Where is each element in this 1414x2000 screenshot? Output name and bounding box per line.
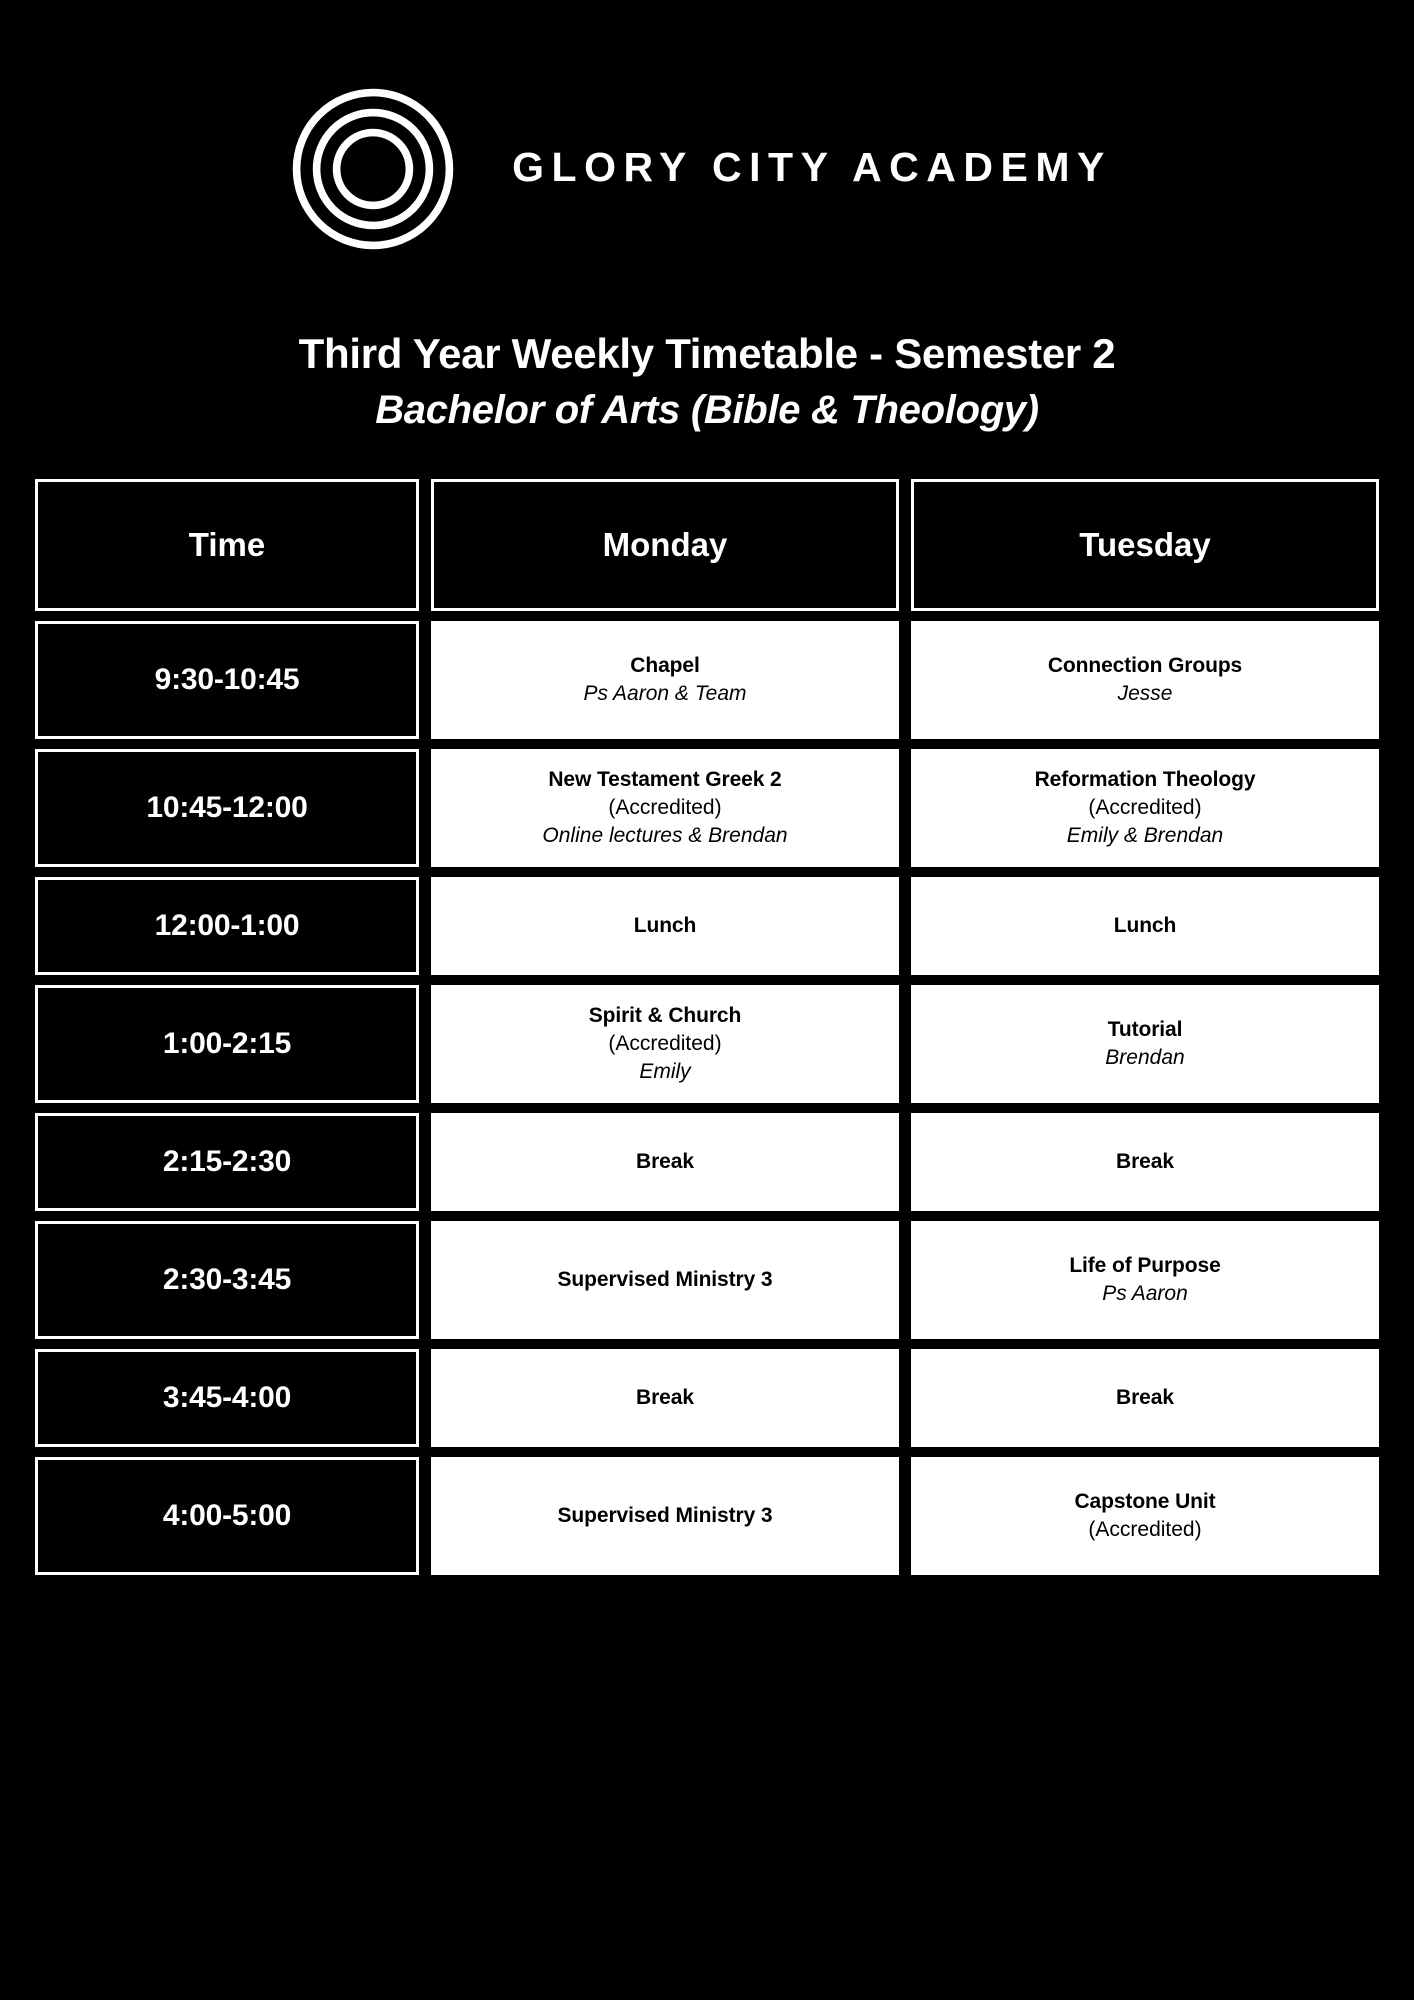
- table-row: 12:00-1:00LunchLunch: [35, 877, 1379, 975]
- class-title: New Testament Greek 2: [443, 766, 887, 794]
- class-title: Break: [923, 1148, 1367, 1176]
- class-staff: Ps Aaron & Team: [443, 680, 887, 708]
- class-staff: Jesse: [923, 680, 1367, 708]
- class-title: Life of Purpose: [923, 1252, 1367, 1280]
- tuesday-cell: Capstone Unit(Accredited): [911, 1457, 1379, 1575]
- class-note: (Accredited): [923, 794, 1367, 822]
- class-staff: Online lectures & Brendan: [443, 822, 887, 850]
- class-title: Reformation Theology: [923, 766, 1367, 794]
- time-slot-cell: 2:30-3:45: [35, 1221, 419, 1339]
- tuesday-cell: Lunch: [911, 877, 1379, 975]
- weekly-timetable: Time Monday Tuesday 9:30-10:45ChapelPs A…: [23, 469, 1391, 1585]
- monday-cell: Lunch: [431, 877, 899, 975]
- class-title: Tutorial: [923, 1016, 1367, 1044]
- tuesday-cell: Break: [911, 1113, 1379, 1211]
- class-title: Capstone Unit: [923, 1488, 1367, 1516]
- column-header-monday: Monday: [431, 479, 899, 611]
- monday-cell: Break: [431, 1113, 899, 1211]
- brand-header: GLORY CITY ACADEMY: [0, 0, 1414, 260]
- monday-cell: Supervised Ministry 3: [431, 1221, 899, 1339]
- class-staff: Emily & Brendan: [923, 822, 1367, 850]
- monday-cell: New Testament Greek 2(Accredited)Online …: [431, 749, 899, 867]
- time-slot-cell: 4:00-5:00: [35, 1457, 419, 1575]
- monday-cell: ChapelPs Aaron & Team: [431, 621, 899, 739]
- table-row: 2:15-2:30BreakBreak: [35, 1113, 1379, 1211]
- class-title: Supervised Ministry 3: [443, 1266, 887, 1294]
- tuesday-cell: TutorialBrendan: [911, 985, 1379, 1103]
- class-title: Break: [443, 1148, 887, 1176]
- table-row: 1:00-2:15Spirit & Church(Accredited)Emil…: [35, 985, 1379, 1103]
- table-body: 9:30-10:45ChapelPs Aaron & TeamConnectio…: [35, 621, 1379, 1575]
- class-title: Connection Groups: [923, 652, 1367, 680]
- table-row: 10:45-12:00New Testament Greek 2(Accredi…: [35, 749, 1379, 867]
- time-slot-cell: 3:45-4:00: [35, 1349, 419, 1447]
- column-header-time: Time: [35, 479, 419, 611]
- tuesday-cell: Life of PurposePs Aaron: [911, 1221, 1379, 1339]
- page-subtitle: Bachelor of Arts (Bible & Theology): [0, 385, 1414, 435]
- class-title: Lunch: [443, 912, 887, 940]
- monday-cell: Break: [431, 1349, 899, 1447]
- time-slot-cell: 12:00-1:00: [35, 877, 419, 975]
- class-title: Lunch: [923, 912, 1367, 940]
- table-header-row: Time Monday Tuesday: [35, 479, 1379, 611]
- timetable-poster: GLORY CITY ACADEMY Third Year Weekly Tim…: [0, 0, 1414, 2000]
- page-title: Third Year Weekly Timetable - Semester 2: [0, 328, 1414, 379]
- time-slot-cell: 9:30-10:45: [35, 621, 419, 739]
- class-note: (Accredited): [923, 1516, 1367, 1544]
- brand-wordmark: GLORY CITY ACADEMY: [512, 147, 1112, 192]
- concentric-circles-logo-icon: [282, 78, 464, 260]
- time-slot-cell: 1:00-2:15: [35, 985, 419, 1103]
- class-title: Break: [443, 1384, 887, 1412]
- column-header-tuesday: Tuesday: [911, 479, 1379, 611]
- tuesday-cell: Break: [911, 1349, 1379, 1447]
- class-title: Chapel: [443, 652, 887, 680]
- table-row: 9:30-10:45ChapelPs Aaron & TeamConnectio…: [35, 621, 1379, 739]
- monday-cell: Spirit & Church(Accredited)Emily: [431, 985, 899, 1103]
- table-row: 3:45-4:00BreakBreak: [35, 1349, 1379, 1447]
- class-staff: Ps Aaron: [923, 1280, 1367, 1308]
- time-slot-cell: 2:15-2:30: [35, 1113, 419, 1211]
- class-staff: Emily: [443, 1058, 887, 1086]
- table-row: 2:30-3:45Supervised Ministry 3Life of Pu…: [35, 1221, 1379, 1339]
- title-block: Third Year Weekly Timetable - Semester 2…: [0, 328, 1414, 435]
- class-title: Spirit & Church: [443, 1002, 887, 1030]
- time-slot-cell: 10:45-12:00: [35, 749, 419, 867]
- monday-cell: Supervised Ministry 3: [431, 1457, 899, 1575]
- class-note: (Accredited): [443, 794, 887, 822]
- class-staff: Brendan: [923, 1044, 1367, 1072]
- class-note: (Accredited): [443, 1030, 887, 1058]
- tuesday-cell: Reformation Theology(Accredited)Emily & …: [911, 749, 1379, 867]
- class-title: Supervised Ministry 3: [443, 1502, 887, 1530]
- class-title: Break: [923, 1384, 1367, 1412]
- table-row: 4:00-5:00Supervised Ministry 3Capstone U…: [35, 1457, 1379, 1575]
- tuesday-cell: Connection GroupsJesse: [911, 621, 1379, 739]
